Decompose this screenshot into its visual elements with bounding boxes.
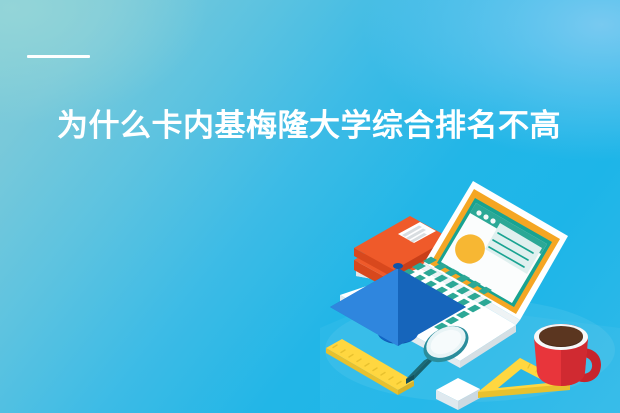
article-cover-banner: 为什么卡内基梅隆大学综合排名不高 bbox=[0, 0, 620, 413]
study-desk-illustration bbox=[320, 178, 620, 413]
page-title: 为什么卡内基梅隆大学综合排名不高 bbox=[57, 106, 561, 146]
decorative-rule bbox=[27, 55, 90, 58]
